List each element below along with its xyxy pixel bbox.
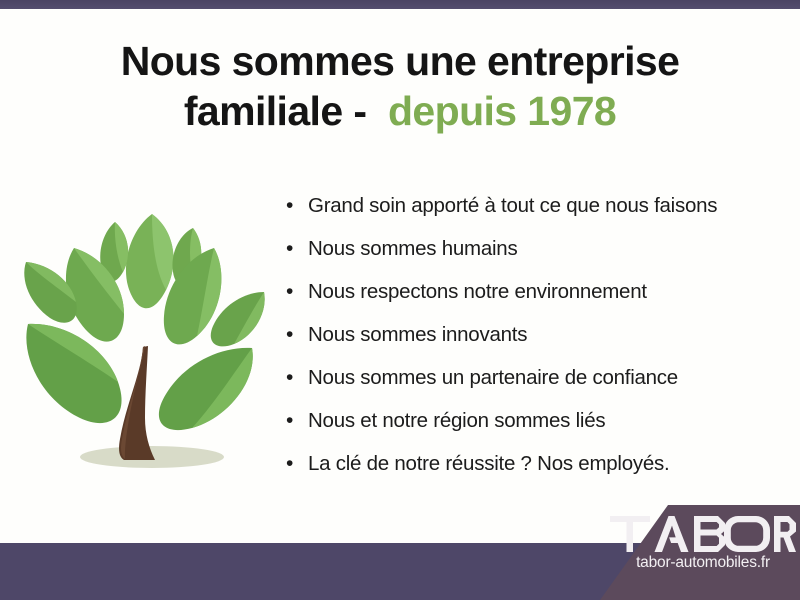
- list-item-label: Nous et notre région sommes liés: [308, 407, 605, 435]
- list-item: • Nous sommes humains: [286, 235, 786, 278]
- list-item: • Nous respectons notre environnement: [286, 278, 786, 321]
- brand-url-label: tabor-automobiles.fr: [636, 554, 770, 572]
- list-item-label: Nous sommes innovants: [308, 321, 527, 349]
- list-item: • Grand soin apporté à tout ce que nous …: [286, 192, 786, 235]
- list-item-label: Nous respectons notre environnement: [308, 278, 647, 306]
- benefits-list: • Grand soin apporté à tout ce que nous …: [286, 192, 786, 493]
- title-line-1: Nous sommes une entreprise: [40, 36, 760, 86]
- bullet-marker-icon: •: [286, 321, 308, 349]
- tabor-wordmark-icon: [610, 512, 796, 552]
- tree-illustration: [14, 196, 278, 476]
- title-line-2-plain: familiale -: [184, 88, 367, 134]
- list-item: • Nous sommes innovants: [286, 321, 786, 364]
- leaf-far-right: [211, 292, 265, 346]
- page-title: Nous sommes une entreprise familiale - d…: [40, 36, 760, 136]
- list-item-label: Grand soin apporté à tout ce que nous fa…: [308, 192, 717, 220]
- list-item: • Nous et notre région sommes liés: [286, 407, 786, 450]
- title-line-2: familiale - depuis 1978: [40, 86, 760, 136]
- list-item: • Nous sommes un partenaire de confiance: [286, 364, 786, 407]
- brand-logo[interactable]: tabor-automobiles.fr: [608, 512, 798, 590]
- bullet-marker-icon: •: [286, 235, 308, 263]
- bullet-marker-icon: •: [286, 450, 308, 478]
- slide-canvas: Nous sommes une entreprise familiale - d…: [0, 0, 800, 600]
- list-item-label: Nous sommes humains: [308, 235, 517, 263]
- title-line-2-accent: depuis 1978: [388, 88, 616, 134]
- bullet-marker-icon: •: [286, 364, 308, 392]
- bullet-marker-icon: •: [286, 407, 308, 435]
- leaf-lower-right: [159, 348, 253, 430]
- list-item-label: La clé de notre réussite ? Nos employés.: [308, 450, 669, 478]
- bullet-marker-icon: •: [286, 278, 308, 306]
- bullet-marker-icon: •: [286, 192, 308, 220]
- leaf-top-center: [126, 214, 174, 308]
- list-item-label: Nous sommes un partenaire de confiance: [308, 364, 678, 392]
- top-accent-band: [0, 0, 800, 9]
- list-item: • La clé de notre réussite ? Nos employé…: [286, 450, 786, 493]
